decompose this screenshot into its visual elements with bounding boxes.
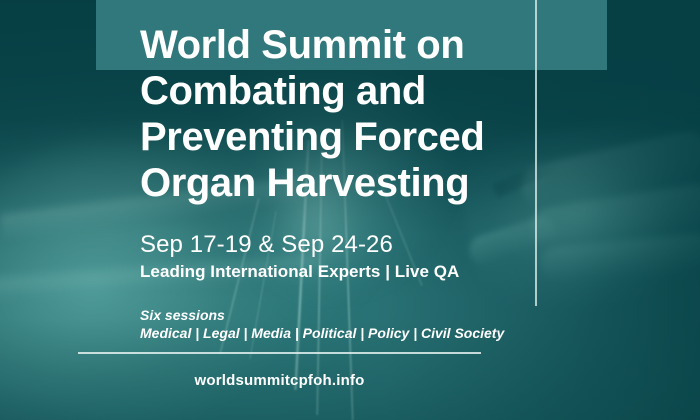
event-dates: Sep 17-19 & Sep 24-26: [140, 231, 393, 259]
sessions-count-label: Six sessions: [140, 306, 225, 324]
sessions-topic-list: Medical | Legal | Media | Political | Po…: [140, 324, 504, 342]
event-title: World Summit on Combating and Preventing…: [140, 22, 560, 206]
event-promo-banner: World Summit on Combating and Preventing…: [0, 0, 700, 420]
banner-content: World Summit on Combating and Preventing…: [0, 0, 700, 420]
event-subtitle: Leading International Experts | Live QA: [140, 261, 459, 283]
event-website-url: worldsummitcpfoh.info: [78, 371, 481, 391]
